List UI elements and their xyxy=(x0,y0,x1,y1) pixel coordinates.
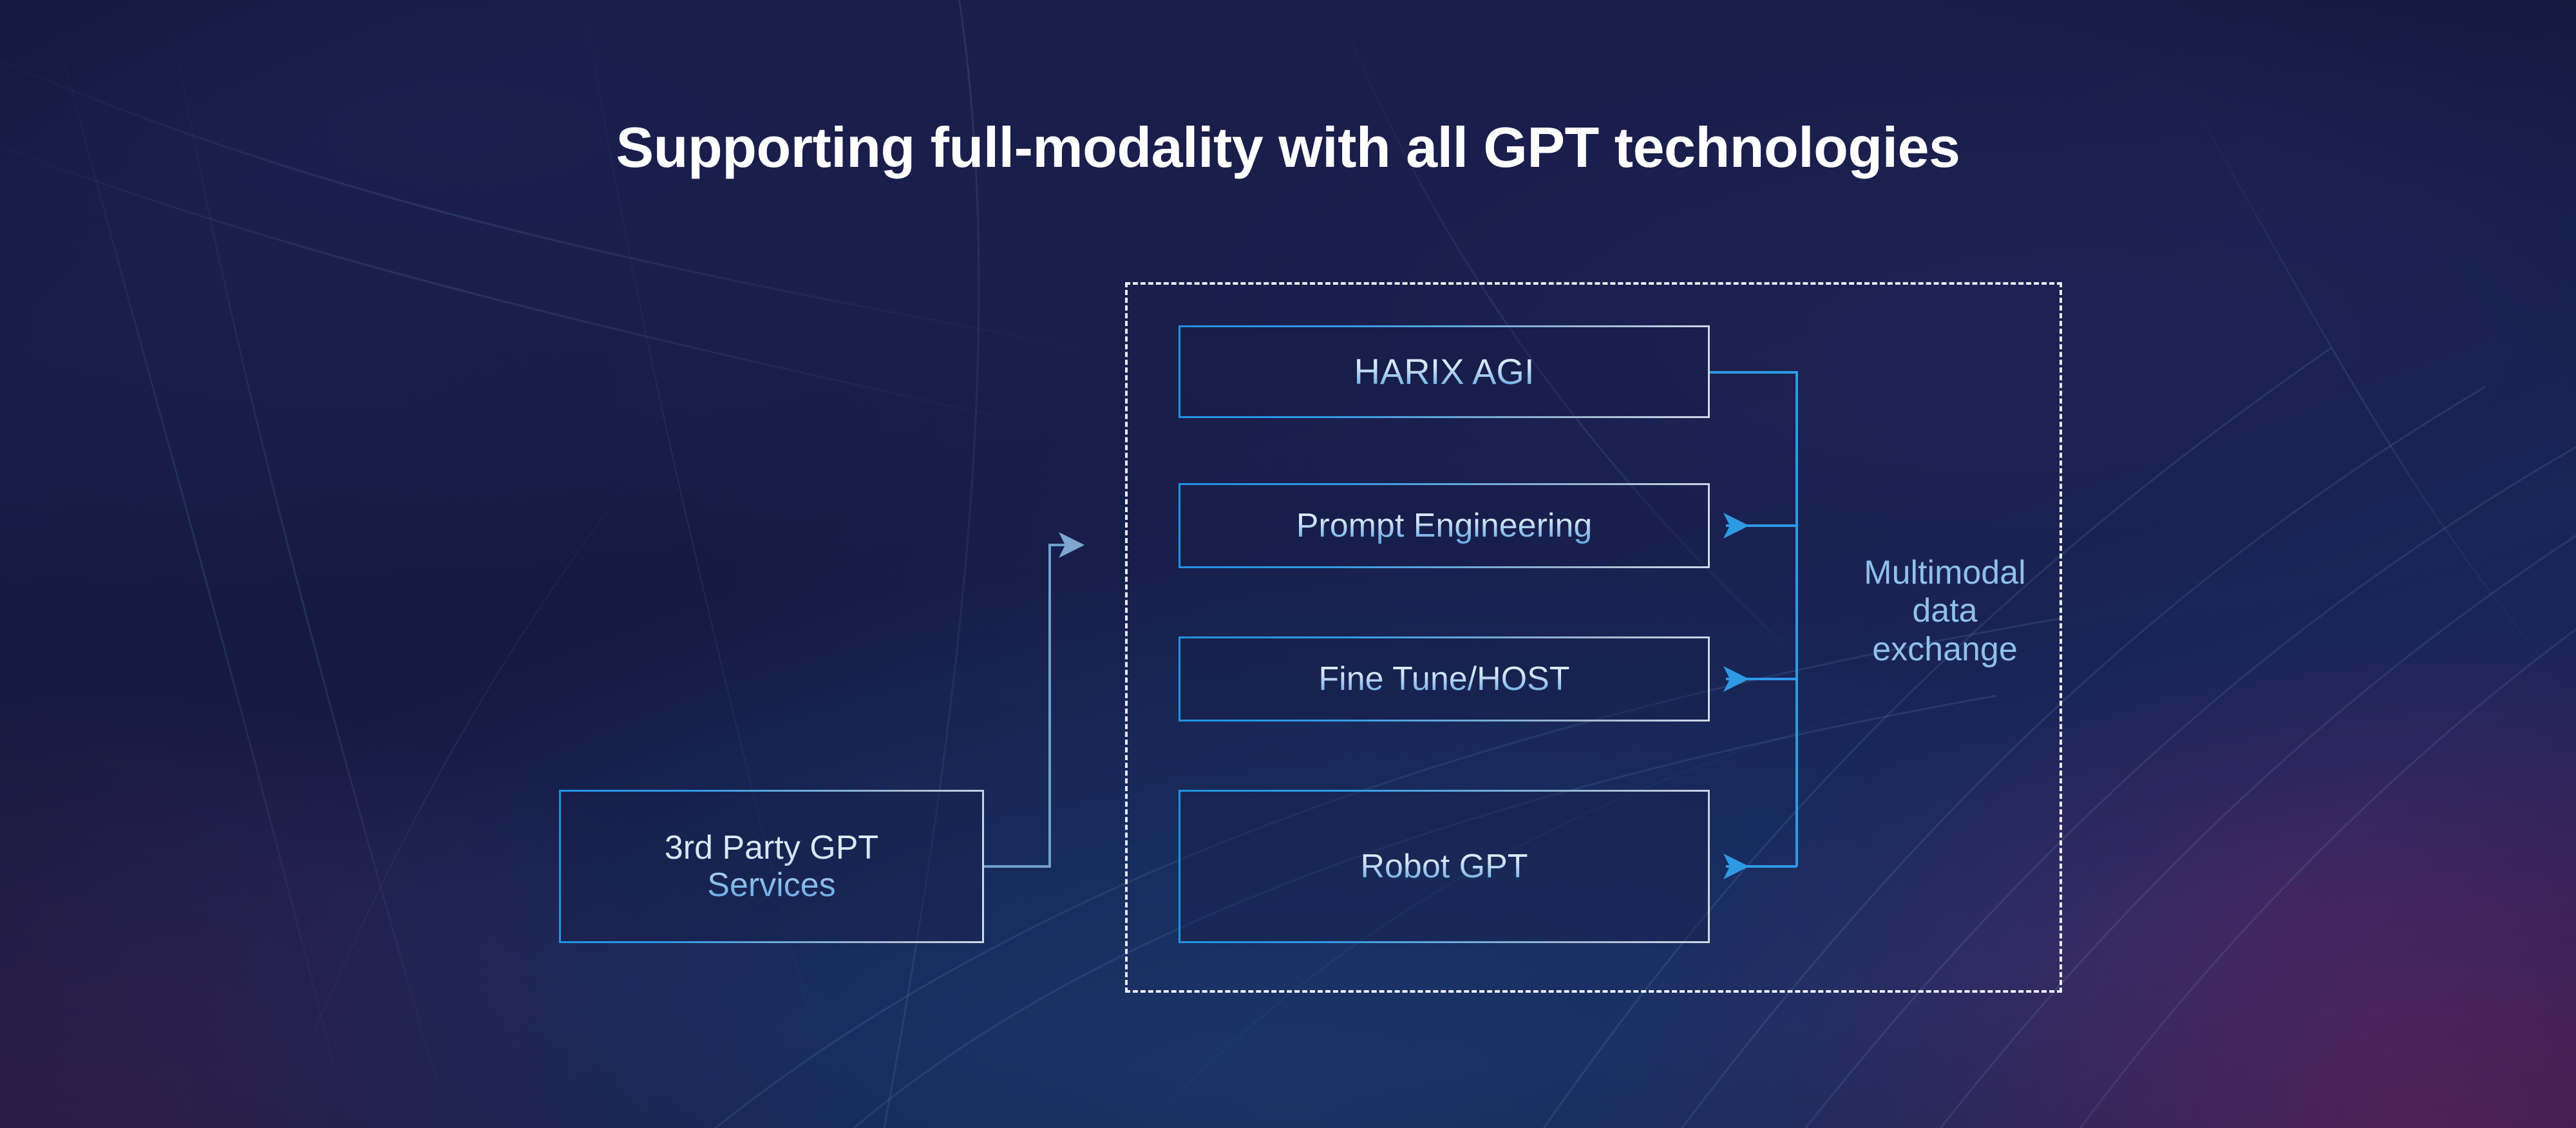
node-harix-agi[interactable]: HARIX AGI xyxy=(1179,325,1710,418)
node-harix-agi-label: HARIX AGI xyxy=(1354,352,1534,392)
node-prompt-engineering-label: Prompt Engineering xyxy=(1296,507,1593,544)
slide-canvas: Supporting full-modality with all GPT te… xyxy=(0,0,2576,1128)
wire-thirdparty-to-platform xyxy=(984,545,1082,866)
node-robot-gpt-label: Robot GPT xyxy=(1360,848,1528,885)
node-fine-tune-host-label: Fine Tune/HOST xyxy=(1318,660,1569,698)
node-prompt-engineering[interactable]: Prompt Engineering xyxy=(1179,483,1710,568)
node-fine-tune-host[interactable]: Fine Tune/HOST xyxy=(1179,636,1710,722)
page-title: Supporting full-modality with all GPT te… xyxy=(0,115,2576,180)
node-third-party-gpt-services[interactable]: 3rd Party GPT Services xyxy=(559,790,984,943)
multimodal-data-exchange-label: Multimodal data exchange xyxy=(1816,554,2074,669)
node-third-party-gpt-services-label: 3rd Party GPT Services xyxy=(665,829,878,904)
node-robot-gpt[interactable]: Robot GPT xyxy=(1179,790,1710,943)
